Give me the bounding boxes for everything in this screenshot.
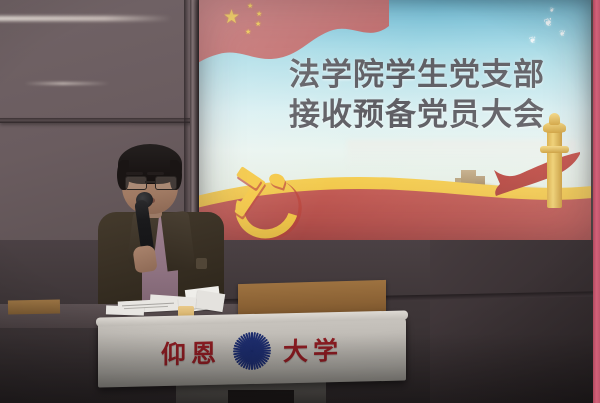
- slide-title-line-2: 接收预备党员大会: [257, 96, 577, 136]
- podium-branding: 仰恩 大学: [98, 315, 406, 388]
- glasses-lens-right: [155, 176, 177, 190]
- flag-star-large: ★: [223, 8, 240, 27]
- speaker-eyebrow-left: [126, 172, 143, 175]
- image-right-edge-strip: [593, 0, 600, 403]
- flag-star-small-1: ★: [247, 3, 253, 10]
- flying-bird-icon-2: ❦: [559, 30, 567, 39]
- projection-screen: ★ ★ ★ ★ ★ ❦ ❦ ❦ ❦ 法学院学生党支部 接收预备党员大会: [199, 0, 591, 243]
- sunburst-logo: [232, 331, 272, 372]
- podium-base-shadow: [228, 390, 294, 403]
- desk-wood-block: [8, 300, 60, 315]
- huabiao-cloud-ring: [540, 146, 569, 153]
- wall-light-reflection-upper: [0, 16, 172, 21]
- speaker-hand: [132, 245, 157, 274]
- wall-light-reflection-lower: [24, 82, 110, 85]
- jacket-pocket-patch: [196, 258, 207, 269]
- university-name-left: 仰恩: [161, 334, 221, 371]
- speaker-eyebrow-right: [147, 172, 164, 175]
- glasses-icon: [124, 176, 176, 188]
- flag-star-small-2: ★: [256, 11, 262, 18]
- glasses-bridge: [145, 181, 155, 183]
- huabiao-top-ornament: [549, 113, 560, 125]
- party-emblem-icon: [231, 168, 297, 228]
- slide-title-line-1: 法学院学生党支部: [257, 56, 577, 96]
- glasses-lens-left: [125, 176, 147, 190]
- flying-bird-icon-3: ❦: [529, 36, 537, 46]
- photo-scene: ★ ★ ★ ★ ★ ❦ ❦ ❦ ❦ 法学院学生党支部 接收预备党员大会: [0, 0, 600, 403]
- flying-bird-icon-1: ❦: [543, 17, 554, 30]
- slide-title: 法学院学生党支部 接收预备党员大会: [257, 56, 577, 135]
- university-name-right: 大学: [283, 331, 343, 368]
- flag-star-small-3: ★: [255, 21, 261, 28]
- huabiao-pillar-icon: [547, 130, 562, 208]
- flying-bird-icon-4: ❦: [548, 7, 555, 14]
- flag-star-small-4: ★: [245, 29, 251, 36]
- lower-wall-right: [430, 240, 600, 403]
- wall-rail: [0, 118, 200, 123]
